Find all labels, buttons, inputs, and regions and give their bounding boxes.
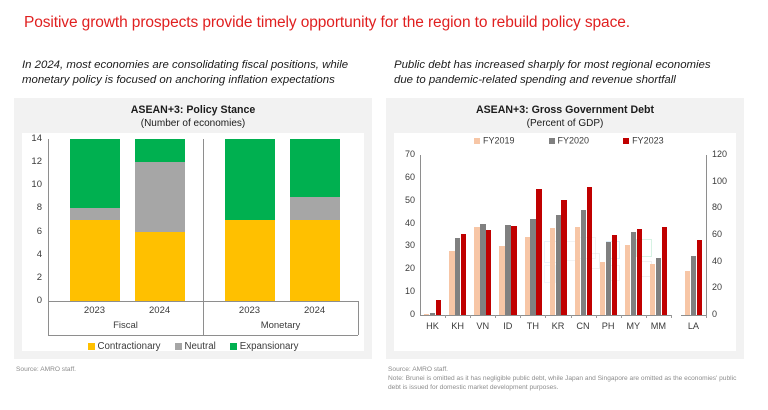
right-y-axis-tick-label: 40: [712, 256, 722, 266]
x-axis-category-label: KH: [445, 321, 470, 331]
stacked-bar: [70, 139, 120, 301]
bar-la-fy2020: [691, 256, 696, 315]
y-axis-tick-label: 4: [24, 249, 42, 260]
x-axis-category-label: LA: [681, 321, 706, 331]
left-chart-panel: ASEAN+3: Policy Stance (Number of econom…: [14, 98, 372, 359]
bar-kr-fy2023: [561, 200, 566, 315]
x-axis-tick: [621, 315, 622, 318]
bar-segment-contractionary: [290, 220, 340, 301]
x-axis-tick: [706, 315, 707, 318]
bar-ph-fy2020: [606, 242, 611, 315]
left-subheading: In 2024, most economies are consolidatin…: [22, 58, 352, 88]
legend-label: FY2023: [632, 136, 664, 146]
x-axis-outer-line: [48, 335, 358, 336]
stacked-bar: [290, 139, 340, 301]
bar-cn-fy2023: [587, 187, 592, 315]
right-y-axis-line: [706, 155, 707, 315]
right-y-axis-tick-label: 80: [712, 202, 722, 212]
bar-hk-fy2023: [436, 300, 441, 315]
x-axis-category-label: 2024: [130, 305, 190, 316]
left-chart-subtitle: (Number of economies): [22, 117, 364, 130]
legend-label: FY2020: [558, 136, 590, 146]
right-note-text: Note: Brunei is omitted as it has neglig…: [388, 374, 744, 392]
bar-kh-fy2019: [449, 251, 454, 315]
right-chart-title: ASEAN+3: Gross Government Debt: [394, 104, 736, 117]
bar-segment-neutral: [290, 197, 340, 220]
y-axis-tick-label: 8: [24, 202, 42, 213]
legend-item[interactable]: FY2020: [549, 135, 590, 146]
left-y-axis-tick-label: 0: [396, 309, 415, 319]
right-y-axis-tick-label: 120: [712, 149, 727, 159]
x-axis-line-la: [681, 315, 706, 316]
bar-mm-fy2020: [656, 258, 661, 315]
bar-vn-fy2020: [480, 224, 485, 315]
bar-hk-fy2020: [430, 313, 435, 315]
x-axis-group-label: Fiscal: [48, 320, 203, 331]
left-chart-title: ASEAN+3: Policy Stance: [22, 104, 364, 117]
left-source-note: Source: AMRO staff.: [16, 365, 372, 374]
y-axis-tick-label: 2: [24, 272, 42, 283]
bar-ph-fy2023: [612, 235, 617, 315]
legend-label: FY2019: [483, 136, 515, 146]
y-axis-tick-label: 10: [24, 179, 42, 190]
legend-item[interactable]: FY2019: [474, 135, 515, 146]
bar-mm-fy2019: [650, 264, 655, 315]
left-y-axis-tick-label: 70: [396, 149, 415, 159]
x-axis-category-label: PH: [596, 321, 621, 331]
legend-swatch-icon: [549, 138, 555, 144]
right-chart-legend: FY2019FY2020FY2023: [474, 135, 664, 146]
x-axis-tick: [495, 315, 496, 318]
left-y-axis-line: [420, 155, 421, 315]
left-chart-legend: ContractionaryNeutralExpansionary: [22, 341, 364, 352]
legend-label: Neutral: [185, 341, 216, 352]
x-axis-tick: [671, 315, 672, 318]
bar-mm-fy2023: [662, 227, 667, 315]
x-axis-category-label: KR: [545, 321, 570, 331]
bar-th-fy2023: [536, 189, 541, 315]
bar-vn-fy2023: [486, 230, 491, 315]
gross-government-debt-chart: 010203040506070020406080100120HKKHVNIDTH…: [394, 133, 736, 351]
bar-kh-fy2020: [455, 238, 460, 315]
left-y-axis-tick-label: 20: [396, 263, 415, 273]
x-axis-tick: [520, 315, 521, 318]
left-column: In 2024, most economies are consolidatin…: [14, 58, 372, 374]
bar-segment-contractionary: [70, 220, 120, 301]
right-source-note: Source: AMRO staff. Note: Brunei is omit…: [388, 365, 744, 392]
x-axis-tick: [571, 315, 572, 318]
right-chart-panel: ASEAN+3: Gross Government Debt (Percent …: [386, 98, 744, 359]
x-axis-category-label: MM: [646, 321, 671, 331]
x-axis-category-label: MY: [621, 321, 646, 331]
x-axis-category-label: 2023: [65, 305, 125, 316]
bar-ph-fy2019: [600, 262, 605, 315]
bar-segment-neutral: [70, 208, 120, 220]
bar-segment-contractionary: [225, 220, 275, 301]
x-axis-tick: [445, 315, 446, 318]
left-y-axis-tick-label: 30: [396, 240, 415, 250]
bar-segment-expansionary: [225, 139, 275, 220]
legend-swatch-icon: [230, 343, 237, 350]
bar-my-fy2019: [625, 245, 630, 315]
bar-id-fy2023: [511, 226, 516, 315]
right-subheading: Public debt has increased sharply for mo…: [394, 58, 724, 88]
legend-item[interactable]: Expansionary: [230, 341, 299, 352]
bar-segment-contractionary: [135, 232, 185, 301]
y-axis-tick-label: 6: [24, 226, 42, 237]
x-axis-category-label: HK: [420, 321, 445, 331]
y-axis-tick-label: 0: [24, 295, 42, 306]
left-y-axis-tick-label: 60: [396, 172, 415, 182]
right-y-axis-tick-label: 20: [712, 282, 722, 292]
left-source-text: Source: AMRO staff.: [16, 366, 76, 373]
x-axis-category-label: ID: [495, 321, 520, 331]
axis-tick-divider: [358, 301, 359, 335]
bar-id-fy2019: [499, 246, 504, 315]
bar-segment-neutral: [135, 162, 185, 231]
bar-segment-expansionary: [70, 139, 120, 208]
left-y-axis-tick-label: 50: [396, 195, 415, 205]
legend-item[interactable]: FY2023: [623, 135, 664, 146]
left-y-axis-tick-label: 40: [396, 218, 415, 228]
bar-hk-fy2019: [424, 314, 429, 315]
y-axis-tick-label: 12: [24, 156, 42, 167]
bar-th-fy2019: [525, 237, 530, 315]
policy-stance-chart: 024681012142023202420232024FiscalMonetar…: [22, 133, 364, 351]
right-column: Public debt has increased sharply for mo…: [386, 58, 744, 392]
right-source-text: Source: AMRO staff.: [388, 366, 448, 373]
bar-cn-fy2019: [575, 227, 580, 315]
bar-my-fy2020: [631, 232, 636, 315]
stacked-bar: [225, 139, 275, 301]
right-y-axis-tick-label: 0: [712, 309, 717, 319]
legend-item[interactable]: Neutral: [175, 341, 216, 352]
bar-id-fy2020: [505, 225, 510, 315]
right-y-axis-tick-label: 100: [712, 176, 727, 186]
bar-kr-fy2020: [556, 215, 561, 315]
x-axis-category-label: TH: [520, 321, 545, 331]
bar-th-fy2020: [530, 219, 535, 315]
x-axis-tick: [646, 315, 647, 318]
legend-label: Expansionary: [240, 341, 299, 352]
bar-vn-fy2019: [474, 227, 479, 315]
right-chart-subtitle: (Percent of GDP): [394, 117, 736, 130]
bar-la-fy2023: [697, 240, 702, 315]
slide-title: Positive growth prospects provide timely…: [24, 14, 630, 32]
legend-label: Contractionary: [98, 341, 161, 352]
bar-segment-expansionary: [290, 139, 340, 197]
right-y-axis-tick-label: 60: [712, 229, 722, 239]
legend-swatch-icon: [88, 343, 95, 350]
bar-my-fy2023: [637, 229, 642, 315]
y-axis-tick-label: 14: [24, 133, 42, 144]
x-axis-category-label: 2023: [220, 305, 280, 316]
stacked-bar: [135, 139, 185, 301]
legend-item[interactable]: Contractionary: [88, 341, 161, 352]
bar-kr-fy2019: [550, 228, 555, 315]
legend-swatch-icon: [474, 138, 480, 144]
bar-la-fy2019: [685, 271, 690, 315]
x-axis-category-label: 2024: [285, 305, 345, 316]
x-axis-group-label: Monetary: [203, 320, 358, 331]
x-axis-tick: [596, 315, 597, 318]
legend-swatch-icon: [623, 138, 629, 144]
legend-swatch-icon: [175, 343, 182, 350]
y-axis-line: [48, 139, 49, 301]
x-axis-tick: [545, 315, 546, 318]
x-axis-tick: [470, 315, 471, 318]
left-y-axis-tick-label: 10: [396, 286, 415, 296]
bar-segment-expansionary: [135, 139, 185, 162]
x-axis-category-label: CN: [571, 321, 596, 331]
bar-kh-fy2023: [461, 234, 466, 315]
group-divider: [203, 139, 204, 301]
bar-cn-fy2020: [581, 210, 586, 315]
x-axis-category-label: VN: [470, 321, 495, 331]
